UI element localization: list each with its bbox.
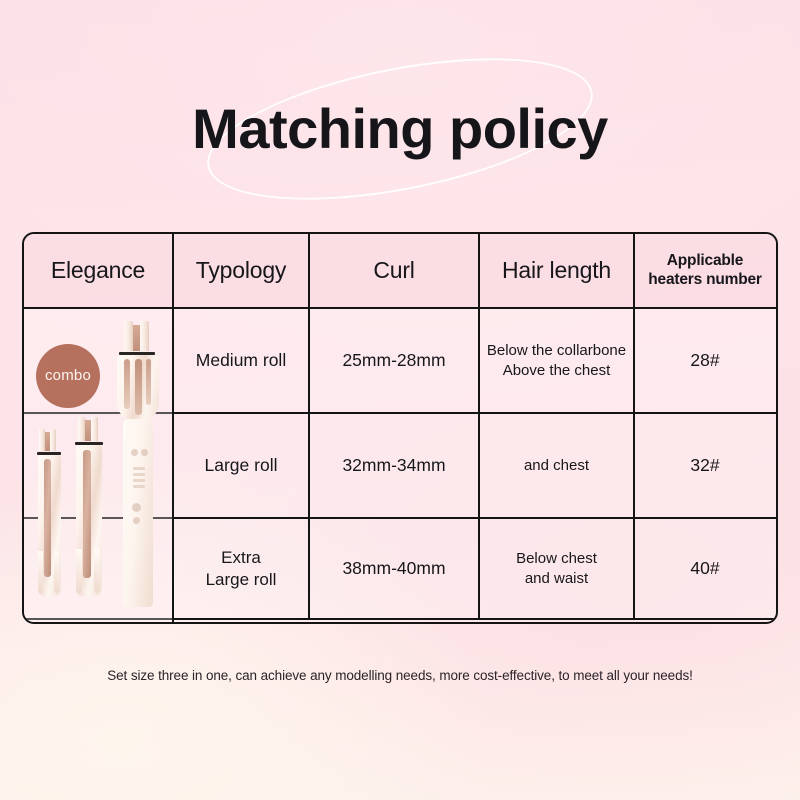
header-cell-elegance: Elegance <box>24 234 174 307</box>
typology-line-3b: Large roll <box>206 569 277 591</box>
curling-wand-large-icon <box>112 321 166 607</box>
product-image-cell: combo <box>24 309 174 623</box>
typology-value-2: Large roll <box>174 414 310 517</box>
page-title: Matching policy <box>0 74 800 184</box>
page-root: Matching policy Elegance Typology Curl H… <box>0 0 800 800</box>
heaters-value-3: 40# <box>635 519 775 618</box>
hair-length-line-1b: Above the chest <box>487 361 626 380</box>
curling-wand-medium-icon <box>70 417 110 597</box>
footer-caption: Set size three in one, can achieve any m… <box>0 668 800 683</box>
typology-value-3: Extra Large roll <box>174 519 310 618</box>
hair-length-line-3a: Below chest <box>516 549 597 568</box>
hair-length-value-1: Below the collarbone Above the chest <box>480 309 635 412</box>
table-header-row: Elegance Typology Curl Hair length Appli… <box>24 234 776 309</box>
curl-value-2: 32mm-34mm <box>310 414 480 517</box>
curl-value-1: 25mm-28mm <box>310 309 480 412</box>
header-cell-curl: Curl <box>310 234 480 307</box>
header-cell-hair-length: Hair length <box>480 234 635 307</box>
heaters-value-1: 28# <box>635 309 775 412</box>
curling-wand-small-icon <box>32 429 68 597</box>
hair-length-value-3: Below chest and waist <box>480 519 635 618</box>
page-title-area: Matching policy <box>0 74 800 184</box>
curl-value-3: 38mm-40mm <box>310 519 480 618</box>
typology-value-1: Medium roll <box>174 309 310 412</box>
hair-length-line-1a: Below the collarbone <box>487 341 626 360</box>
hair-length-line-3b: and waist <box>516 569 597 588</box>
header-cell-applicable-heaters-number: Applicable heaters number <box>635 234 775 307</box>
header-cell-typology: Typology <box>174 234 310 307</box>
hair-length-value-2: and chest <box>480 414 635 517</box>
typology-line-3a: Extra <box>206 547 277 569</box>
combo-badge: combo <box>36 344 100 408</box>
heaters-value-2: 32# <box>635 414 775 517</box>
matching-policy-table: Elegance Typology Curl Hair length Appli… <box>22 232 778 624</box>
